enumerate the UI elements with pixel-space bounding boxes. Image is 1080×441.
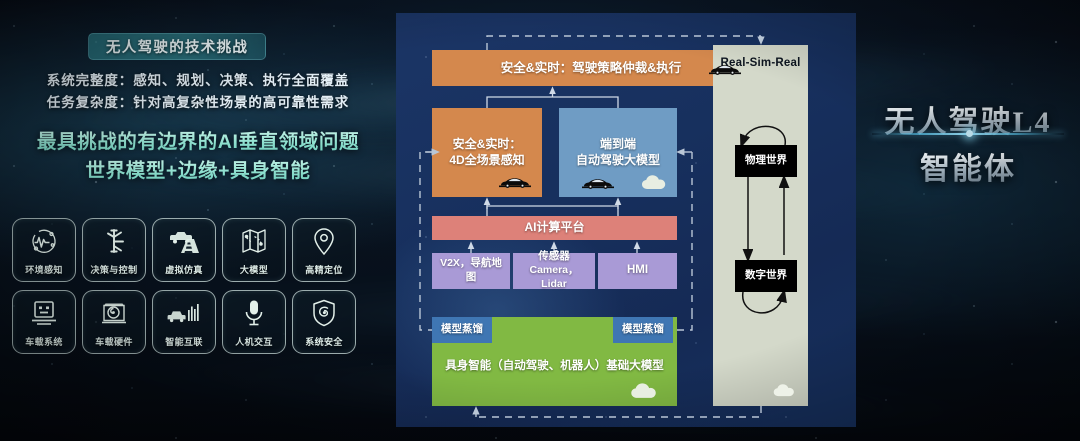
- rsr-physical-world-block[interactable]: 物理世界: [735, 145, 797, 177]
- cloud-icon: [772, 382, 798, 398]
- shield-lock-icon: [293, 298, 355, 328]
- tile-human-machine-interaction[interactable]: 人机交互: [222, 290, 286, 354]
- sensing-waveform-icon: [13, 226, 75, 256]
- car-icon: [498, 175, 532, 189]
- simulation-car-road-icon: [153, 226, 215, 256]
- in-car-display-icon: [13, 298, 75, 328]
- box-label-line: 自动驾驶大模型: [576, 153, 660, 167]
- cloud-icon: [640, 173, 670, 191]
- tile-label: 车载系统: [25, 335, 63, 348]
- box-label: AI计算平台: [518, 220, 590, 236]
- tile-label: 虚拟仿真: [165, 263, 203, 276]
- cloud-icon: [629, 381, 661, 400]
- tile-label: 高精定位: [305, 263, 343, 276]
- rsr-loop-arrows: [713, 45, 808, 406]
- diagram-box-4d-perception[interactable]: 安全&实时： 4D全场景感知: [432, 108, 542, 197]
- box-label: 传感器 Camera，Lidar: [513, 250, 595, 292]
- tile-label: 大模型: [240, 263, 268, 276]
- tile-large-model[interactable]: 大模型: [222, 218, 286, 282]
- subtitle-line: 系统完整度：感知、规划、决策、执行全面覆盖: [0, 70, 396, 92]
- rsr-digital-world-block[interactable]: 数字世界: [735, 260, 797, 292]
- box-label: 安全&实时：驾驶策略仲裁&执行: [495, 60, 688, 77]
- box-label-line: 4D全场景感知: [449, 153, 524, 167]
- tile-smart-connectivity[interactable]: 智能互联: [152, 290, 216, 354]
- tile-virtual-simulation[interactable]: 虚拟仿真: [152, 218, 216, 282]
- tile-in-vehicle-hardware[interactable]: 车载硬件: [82, 290, 146, 354]
- tile-environment-sensing[interactable]: 环境感知: [12, 218, 76, 282]
- diagram-box-sensors[interactable]: 传感器 Camera，Lidar: [513, 253, 595, 289]
- diagram-box-hmi[interactable]: HMI: [598, 253, 677, 289]
- tile-high-precision-positioning[interactable]: 高精定位: [292, 218, 356, 282]
- box-label-line: 传感器: [538, 250, 570, 262]
- box-label-line: 安全&实时：: [453, 137, 522, 151]
- box-label: 模型蒸馏: [616, 323, 670, 337]
- headline-line: 世界模型+边缘+具身智能: [0, 157, 396, 186]
- car-icon: [581, 176, 615, 190]
- box-label: 具身智能（自动驾驶、机器人）基础大模型: [439, 359, 670, 374]
- section-badge: 无人驾驶的技术挑战: [88, 33, 266, 60]
- box-label: 安全&实时： 4D全场景感知: [443, 137, 530, 169]
- tile-decision-control[interactable]: 决策与控制: [82, 218, 146, 282]
- diagram-box-end-to-end-model[interactable]: 端到端 自动驾驶大模型: [559, 108, 677, 197]
- subtitle-group: 系统完整度：感知、规划、决策、执行全面覆盖 任务复杂度：针对高复杂性场景的高可靠…: [0, 70, 396, 114]
- hardware-chip-icon: [83, 298, 145, 328]
- car-icon: [708, 62, 742, 76]
- block-label: 数字世界: [745, 269, 787, 283]
- connected-car-signal-icon: [153, 298, 215, 328]
- diagram-box-distillation-left[interactable]: 模型蒸馏: [432, 317, 492, 343]
- location-pin-icon: [293, 226, 355, 256]
- box-label: V2X，导航地图: [432, 257, 510, 285]
- tile-label: 决策与控制: [90, 263, 137, 276]
- box-label-line: 端到端: [600, 137, 636, 151]
- diagram-box-distillation-right[interactable]: 模型蒸馏: [613, 317, 673, 343]
- diagram-box-policy-arbitration[interactable]: 安全&实时：驾驶策略仲裁&执行: [432, 50, 750, 86]
- box-label: HMI: [621, 263, 654, 278]
- tile-system-security[interactable]: 系统安全: [292, 290, 356, 354]
- diagram-panel-real-sim-real[interactable]: Real-Sim-Real 物理世界 数字世界: [713, 45, 808, 406]
- tile-label: 智能互联: [165, 335, 203, 348]
- right-title-line-2: 智能体: [856, 144, 1080, 188]
- tile-label: 环境感知: [25, 263, 63, 276]
- box-label-line: Camera，Lidar: [529, 264, 578, 290]
- tile-label: 系统安全: [305, 335, 343, 348]
- tile-label: 车载硬件: [95, 335, 133, 348]
- block-label: 物理世界: [745, 154, 787, 168]
- box-label: 模型蒸馏: [435, 323, 489, 337]
- tile-label: 人机交互: [235, 335, 273, 348]
- architecture-diagram-panel: 安全&实时：驾驶策略仲裁&执行 安全&实时： 4D全场景感知: [396, 13, 856, 427]
- headline-line: 最具挑战的有边界的AI垂直领域问题: [0, 128, 396, 157]
- diagram-box-ai-compute-platform[interactable]: AI计算平台: [432, 216, 677, 240]
- slide-canvas: 无人驾驶的技术挑战 系统完整度：感知、规划、决策、执行全面覆盖 任务复杂度：针对…: [0, 0, 1080, 441]
- left-content-column: 无人驾驶的技术挑战 系统完整度：感知、规划、决策、执行全面覆盖 任务复杂度：针对…: [0, 0, 396, 441]
- microphone-icon: [223, 298, 285, 328]
- subtitle-line: 任务复杂度：针对高复杂性场景的高可靠性需求: [0, 92, 396, 114]
- headline-group: 最具挑战的有边界的AI垂直领域问题 世界模型+边缘+具身智能: [0, 128, 396, 186]
- divider-glow-dot: [966, 130, 973, 137]
- map-folded-icon: [223, 226, 285, 256]
- right-title-column: 无人驾驶L4 智能体: [856, 0, 1080, 441]
- diagram-box-v2x-navigation[interactable]: V2X，导航地图: [432, 253, 510, 289]
- capability-icon-grid: 环境感知 决策与控制: [12, 218, 356, 354]
- box-label: 端到端 自动驾驶大模型: [570, 137, 666, 169]
- decision-branch-icon: [83, 226, 145, 256]
- tile-in-vehicle-system[interactable]: 车载系统: [12, 290, 76, 354]
